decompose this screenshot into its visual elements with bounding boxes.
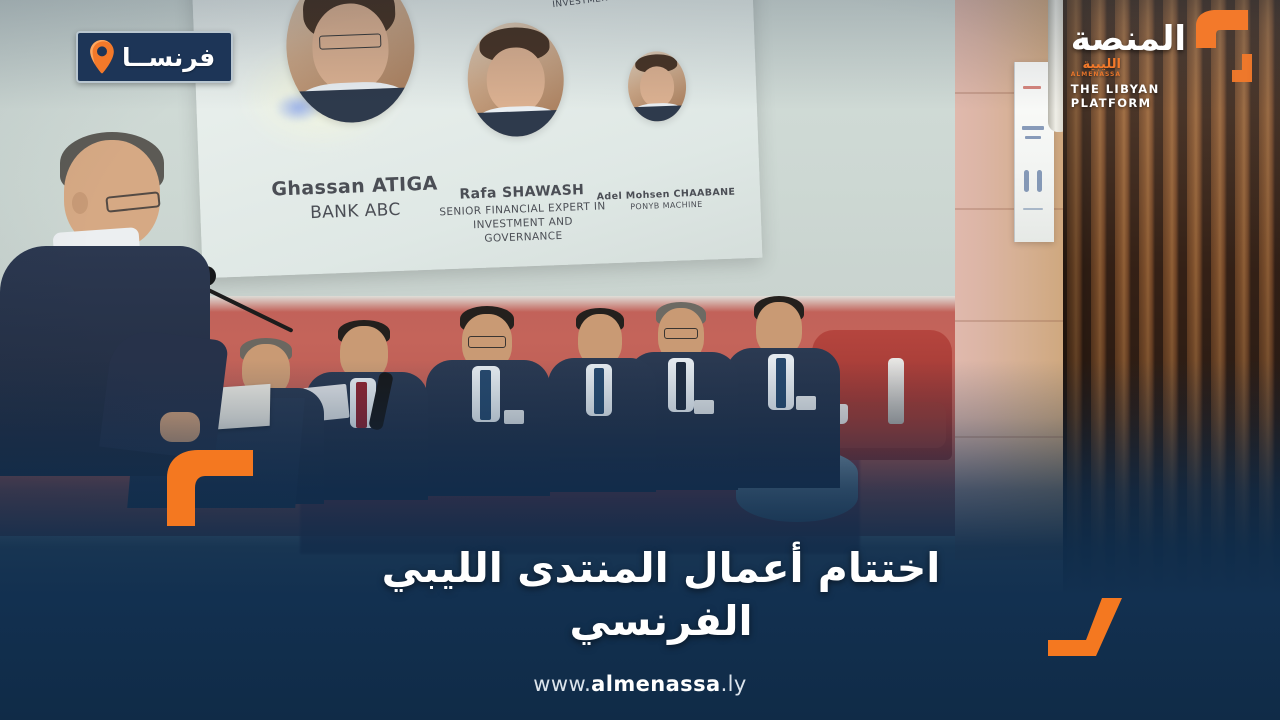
panelist-6 xyxy=(724,296,844,486)
orange-angle-decoration xyxy=(1046,596,1130,658)
slide-speaker-4: Adel Mohsen CHAABANE PONYB MACHINE xyxy=(596,187,737,215)
url-prefix: www. xyxy=(533,672,591,696)
location-badge[interactable]: فرنســا xyxy=(76,31,233,83)
brand-subtitle-tiny: ALMENASSA xyxy=(1071,72,1121,79)
orange-hook-decoration xyxy=(163,448,255,526)
panelist-3 xyxy=(426,306,552,492)
slide-avatar-1 xyxy=(284,0,417,125)
podium-speaker xyxy=(10,138,228,468)
news-card: LIBYA TRADE NET Ghassan ATIGA BANK ABC R… xyxy=(0,0,1280,720)
location-label: فرنســا xyxy=(122,45,215,70)
slide-speaker-2: Rafa SHAWASH SENIOR FINANCIAL EXPERT IN … xyxy=(438,181,608,248)
site-url[interactable]: www.almenassa.ly xyxy=(0,672,1280,696)
brand-name-english: THE LIBYAN PLATFORM xyxy=(1071,83,1160,111)
slide-speaker-3: Hasan ALHADDAD SENIOR LEGAL EXPERT IN IN… xyxy=(541,0,703,13)
brand-logo[interactable]: المنصة الليبية ALMENASSA THE LIBYAN PLAT… xyxy=(1071,8,1266,112)
map-pin-icon xyxy=(88,39,116,75)
url-tld: .ly xyxy=(721,672,747,696)
url-brand: almenassa xyxy=(591,672,720,696)
headline: اختتام أعمال المنتدى الليبي الفرنسي xyxy=(300,542,1022,647)
projection-screen: LIBYA TRADE NET Ghassan ATIGA BANK ABC R… xyxy=(190,0,763,278)
brand-name-arabic: المنصة xyxy=(1071,22,1186,56)
brand-mark-icon xyxy=(1192,8,1266,86)
panelist-4 xyxy=(548,308,660,490)
water-bottle xyxy=(888,358,904,424)
slide-avatar-4 xyxy=(627,50,688,122)
slide-avatar-2 xyxy=(466,21,566,138)
slide-speaker-1: Ghassan ATIGA BANK ABC xyxy=(259,171,451,227)
brand-subtitle-arabic: الليبية ALMENASSA xyxy=(1071,58,1121,79)
brand-text: المنصة الليبية ALMENASSA THE LIBYAN PLAT… xyxy=(1071,8,1186,110)
